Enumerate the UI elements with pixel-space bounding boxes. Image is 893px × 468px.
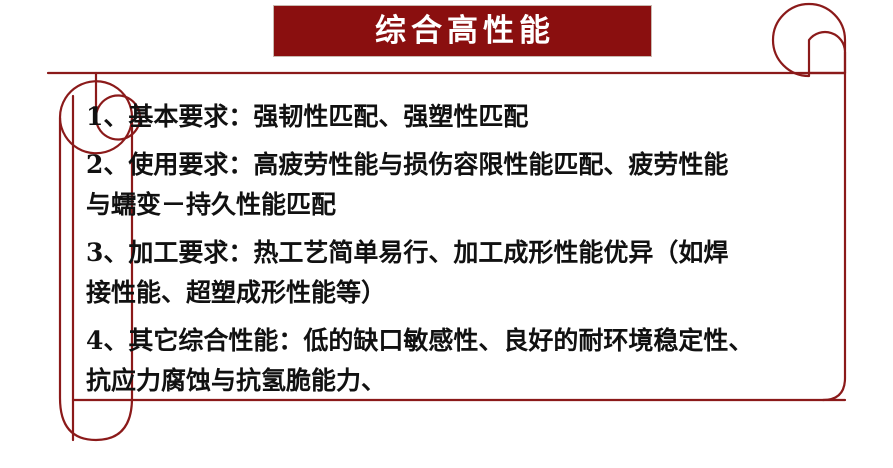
content-line-5: 接性能、超塑成形性能等） <box>86 273 856 313</box>
page-title: 综合高性能 <box>370 16 555 47</box>
content-line-1: 1、基本要求：强韧性匹配、强塑性匹配 <box>86 97 856 137</box>
content-line-2: 2、使用要求：高疲劳性能与损伤容限性能匹配、疲劳性能 <box>86 145 856 185</box>
content-line-4: 3、加工要求：热工艺简单易行、加工成形性能优异（如焊 <box>86 233 856 273</box>
content-line-3: 与蠕变－持久性能匹配 <box>86 185 856 225</box>
content-line-7: 抗应力腐蚀与抗氢脆能力、 <box>86 361 856 401</box>
scroll-curl-right-icon <box>773 4 845 76</box>
content-line-6: 4、其它综合性能：低的缺口敏感性、良好的耐环境稳定性、 <box>86 321 856 361</box>
slide-title-banner: 综合高性能 <box>273 5 652 57</box>
content-body: 1、基本要求：强韧性匹配、强塑性匹配 2、使用要求：高疲劳性能与损伤容限性能匹配… <box>86 97 856 401</box>
slide-canvas: 综合高性能 1、基本要求：强韧性匹配、强塑性匹配 2、使用要求：高疲劳性能与损伤… <box>0 0 893 468</box>
